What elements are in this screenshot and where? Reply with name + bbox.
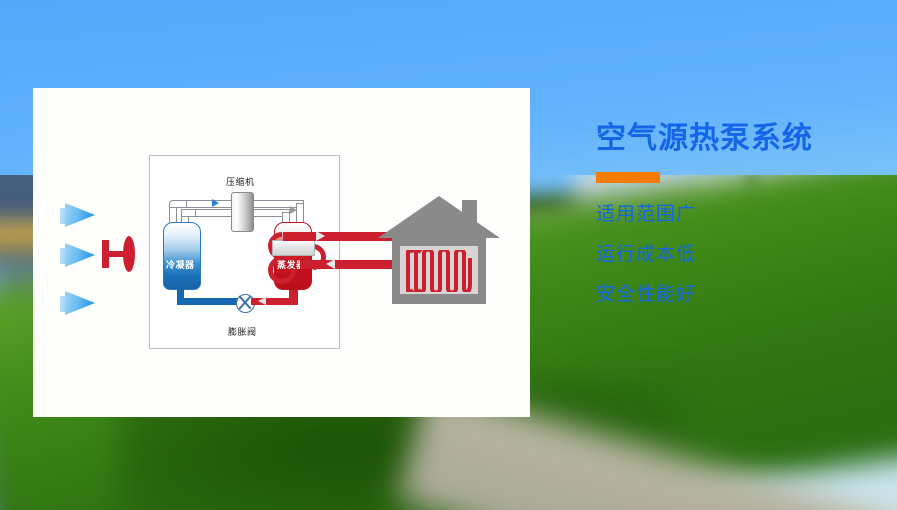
slide-canvas: 压缩机 冷凝器 膨胀阀 蒸发器 空气源热泵系统 适用范围广 运行成本低 安 — [0, 0, 897, 510]
feature-list: 适用范围广 运行成本低 安全性能好 — [596, 205, 813, 304]
pipe-liquid-line — [177, 298, 239, 305]
flow-arrow-supply — [316, 231, 325, 241]
text-panel: 空气源热泵系统 适用范围广 运行成本低 安全性能好 — [596, 124, 813, 325]
evaporator-plate — [272, 240, 315, 256]
feature-item-1: 适用范围广 — [596, 205, 813, 224]
flow-arrow-to-compressor — [212, 199, 219, 207]
feature-item-3: 安全性能好 — [596, 285, 813, 304]
condenser-label: 冷凝器 — [166, 258, 195, 271]
compressor-label: 压缩机 — [226, 175, 255, 188]
pipe-top-left-run-inner — [195, 209, 236, 217]
flow-arrow-return — [326, 259, 335, 269]
compressor-unit — [231, 192, 254, 232]
flow-arrow-to-evaporator — [290, 206, 297, 214]
flow-arrow-to-valve — [258, 297, 266, 305]
floor-heating-coil-icon — [404, 250, 474, 292]
condenser-unit — [163, 222, 201, 290]
page-title: 空气源热泵系统 — [596, 124, 813, 154]
feature-item-2: 运行成本低 — [596, 245, 813, 264]
accent-bar — [596, 172, 660, 183]
pipe-top-left-run — [186, 200, 236, 208]
expansion-valve-label: 膨胀阀 — [228, 325, 257, 338]
